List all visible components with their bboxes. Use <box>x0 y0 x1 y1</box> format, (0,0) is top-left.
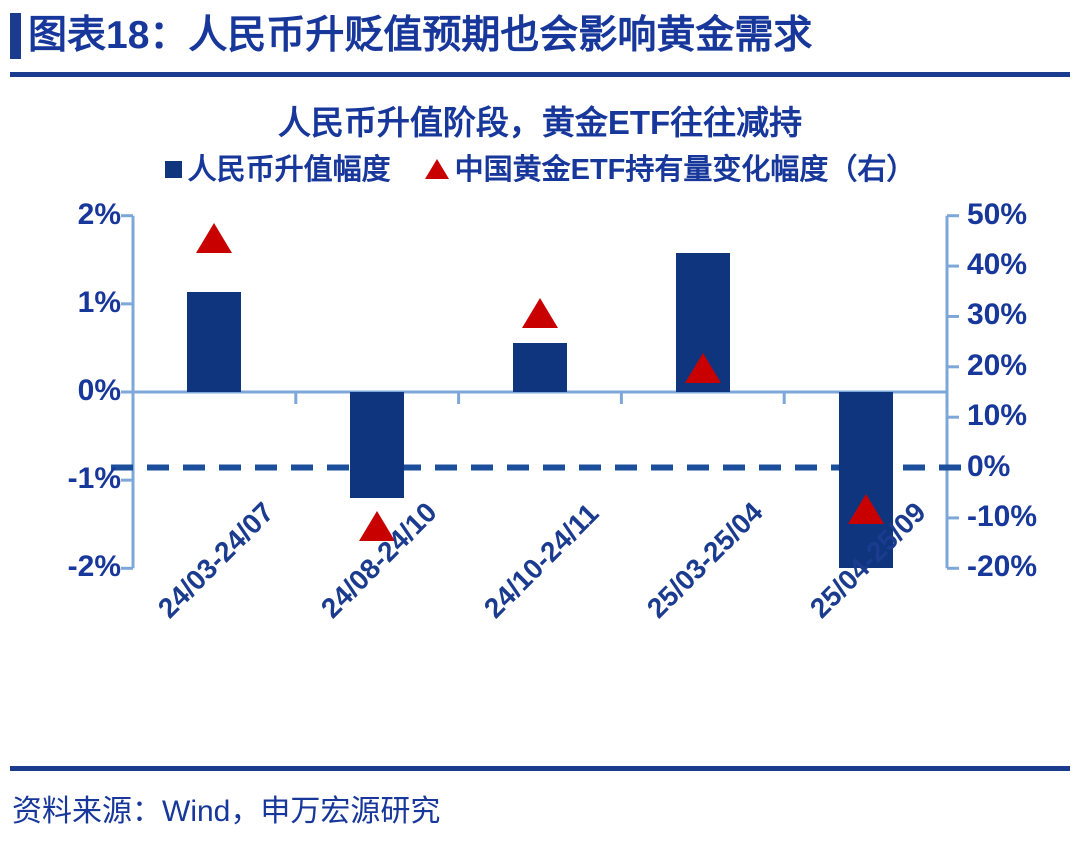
y-axis-right-tick-label: 0% <box>967 452 1010 482</box>
y-axis-left-tick-label: -1% <box>68 464 121 494</box>
triangle-marker <box>848 494 884 524</box>
triangle-marker <box>685 353 721 383</box>
y-axis-right-tick-label: 20% <box>967 351 1027 381</box>
y-axis-right-tick-label: 40% <box>967 250 1027 280</box>
triangle-marker <box>196 223 232 253</box>
chart-container: 人民币升值阶段，黄金ETF往往减持 人民币升值幅度 中国黄金ETF持有量变化幅度… <box>0 78 1080 750</box>
bar <box>350 392 404 498</box>
chart-page: 图表18：人民币升贬值预期也会影响黄金需求 人民币升值阶段，黄金ETF往往减持 … <box>0 0 1080 845</box>
y-axis-right-tick-label: -10% <box>967 502 1037 532</box>
y-axis-left-tick-label: -2% <box>68 552 121 582</box>
y-axis-right-tick-label: 50% <box>967 200 1027 230</box>
axes-svg <box>0 78 1080 750</box>
title-accent-bar <box>10 13 21 59</box>
source-note: 资料来源：Wind，申万宏源研究 <box>12 786 440 830</box>
y-axis-right-tick-label: 10% <box>967 401 1027 431</box>
bar <box>187 292 241 392</box>
triangle-marker <box>522 298 558 328</box>
footer-divider <box>10 766 1070 771</box>
page-title: 图表18：人民币升贬值预期也会影响黄金需求 <box>28 8 812 64</box>
y-axis-left-tick-label: 1% <box>78 288 121 318</box>
y-axis-right-tick-label: 30% <box>967 300 1027 330</box>
y-axis-left-tick-label: 0% <box>78 376 121 406</box>
y-axis-left-tick-label: 2% <box>78 200 121 230</box>
plot-area: 2%1%0%-1%-2%50%40%30%20%10%0%-10%-20%24/… <box>0 78 1080 750</box>
figure-header: 图表18：人民币升贬值预期也会影响黄金需求 <box>0 0 1080 76</box>
bar <box>513 343 567 392</box>
y-axis-right-tick-label: -20% <box>967 552 1037 582</box>
header-divider <box>10 72 1070 77</box>
